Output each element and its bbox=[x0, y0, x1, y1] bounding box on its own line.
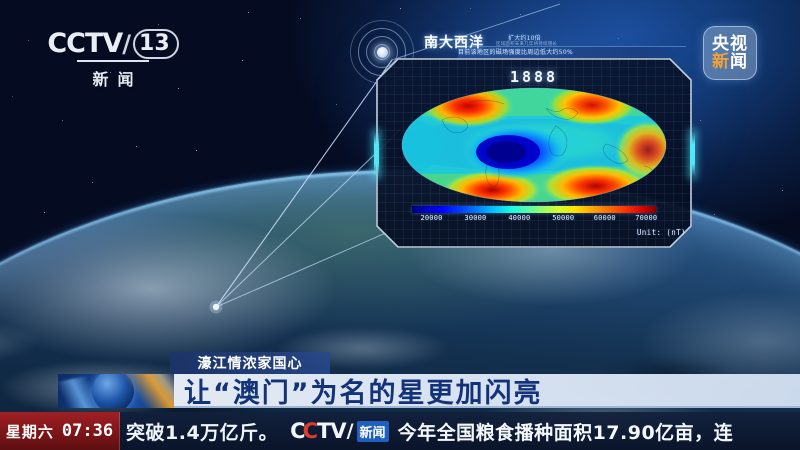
magnetic-field-panel: 1888 bbox=[376, 58, 692, 248]
colorbar-tick: 20000 bbox=[420, 214, 442, 222]
year-label: 1888 bbox=[376, 68, 692, 86]
colorbar-tick: 50000 bbox=[552, 214, 574, 222]
panel-accent-bar-right bbox=[690, 130, 695, 178]
cctv-news-badge: 央视 新闻 bbox=[703, 26, 757, 80]
ticker-clock-box: 星期六 07:36 bbox=[0, 412, 120, 450]
ticker-logo-c2: C bbox=[303, 421, 318, 442]
colorbar-tick: 30000 bbox=[464, 214, 486, 222]
ticker-logo-tv: TV bbox=[317, 419, 346, 443]
broadcast-screen: 南大西洋 扩大约10倍 区域面积未来几年将持续增长 目前该地区的磁场强度比周边低… bbox=[0, 0, 800, 450]
colorbar-ticks: 20000 30000 40000 50000 60000 70000 bbox=[412, 214, 656, 225]
cctv-news-ticker-logo: C C TV / 新闻 bbox=[290, 419, 388, 443]
badge-bottom-text: 新闻 bbox=[712, 53, 748, 71]
badge-top-text: 央视 bbox=[712, 35, 748, 53]
colorbar-gradient bbox=[412, 206, 656, 213]
ticker-headline: 今年全国粮食播种面积17.90亿亩，连 bbox=[398, 418, 734, 445]
channel-logo: CCTV / 13 新闻 bbox=[48, 28, 178, 84]
badge-bottom-white: 闻 bbox=[730, 52, 748, 72]
headline-decoration bbox=[58, 374, 174, 408]
news-ticker: 星期六 07:36 突破1.4万亿斤。 C C TV / 新闻 今年全国粮食播种… bbox=[0, 412, 800, 450]
headline-text: 让“澳门”为名的星更加闪亮 bbox=[184, 371, 543, 410]
channel-logo-slash: / bbox=[122, 30, 131, 58]
ticker-previous-text: 突破1.4万亿斤。 bbox=[126, 418, 278, 445]
colorbar-unit-label: Unit: (nT) bbox=[637, 228, 686, 237]
channel-logo-number: 13 bbox=[133, 29, 179, 59]
colorbar-tick: 70000 bbox=[635, 214, 657, 222]
geomagnetic-map bbox=[396, 86, 672, 204]
ticker-weekday: 星期六 bbox=[6, 421, 54, 442]
mollweide-heatmap bbox=[396, 86, 672, 204]
ticker-logo-cn: 新闻 bbox=[357, 421, 389, 442]
ripple-center-dot bbox=[377, 47, 388, 58]
panel-accent-bar-left bbox=[374, 130, 379, 178]
channel-logo-cctv: CCTV bbox=[47, 28, 122, 59]
ticker-logo-slash: / bbox=[347, 420, 354, 442]
colorbar: 20000 30000 40000 50000 60000 70000 bbox=[412, 206, 656, 225]
channel-logo-cn: 新闻 bbox=[48, 66, 178, 90]
ticker-time: 07:36 bbox=[62, 421, 113, 441]
headline-deco-gold-swoosh bbox=[111, 374, 174, 408]
channel-logo-underline bbox=[77, 60, 149, 62]
badge-bottom-orange: 新 bbox=[712, 52, 730, 72]
hud-header: 南大西洋 扩大约10倍 区域面积未来几年将持续增长 目前该地区的磁场强度比周边低… bbox=[418, 32, 686, 58]
hud-subtitle-3: 目前该地区的磁场强度比周边低大约50% bbox=[458, 47, 573, 56]
colorbar-tick: 60000 bbox=[594, 214, 616, 222]
ticker-content: 突破1.4万亿斤。 C C TV / 新闻 今年全国粮食播种面积17.90亿亩，… bbox=[120, 412, 800, 450]
headline-bar: 让“澳门”为名的星更加闪亮 bbox=[58, 374, 800, 408]
colorbar-tick: 40000 bbox=[508, 214, 530, 222]
